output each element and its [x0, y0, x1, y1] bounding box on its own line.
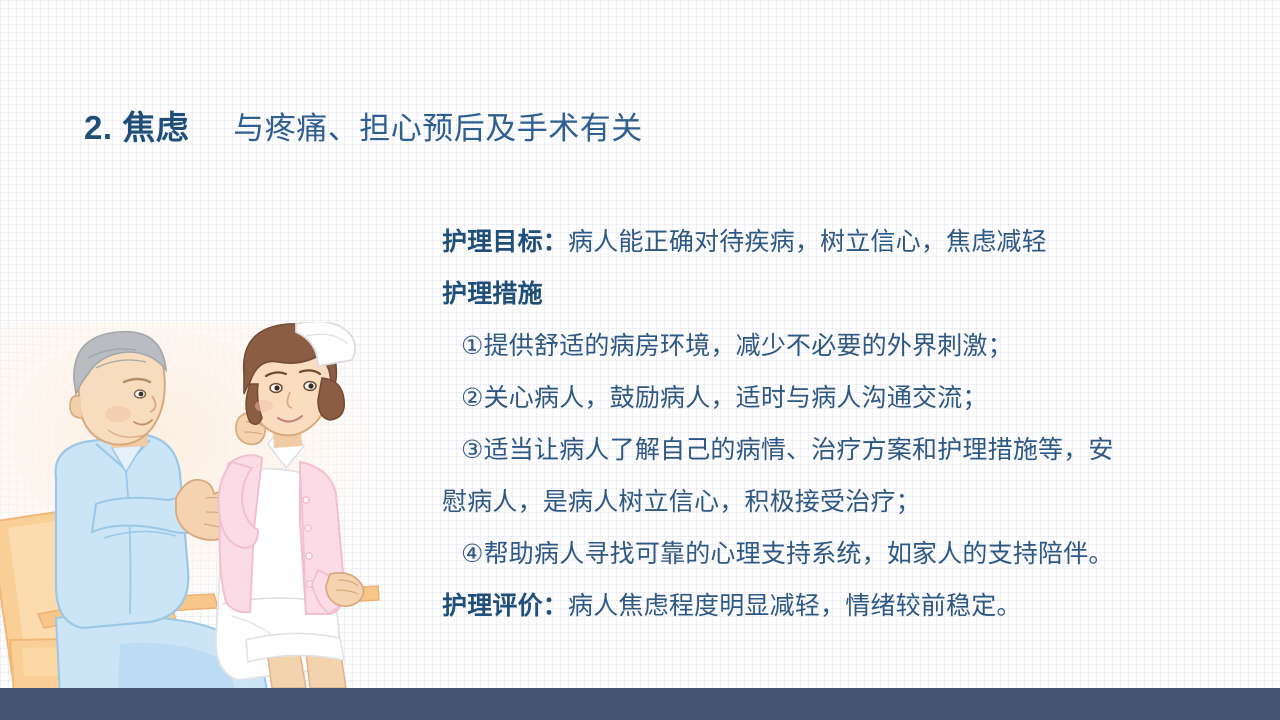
care-evaluation-text: 病人焦虑程度明显减轻，情绪较前稳定。 — [568, 592, 1022, 620]
care-measure-item-continued: 慰病人，是病人树立信心，积极接受治疗； — [442, 476, 1242, 528]
title-number-and-topic: 2. 焦虑 — [84, 101, 189, 149]
title-related-to: 与疼痛、担心预后及手术有关 — [233, 103, 643, 148]
care-measure-item: ③适当让病人了解自己的病情、治疗方案和护理措施等，安 — [442, 424, 1242, 476]
care-goal-label: 护理目标： — [442, 228, 568, 256]
illustration-artwork — [0, 322, 390, 688]
nurse-and-patient-illustration — [0, 322, 390, 688]
care-measure-item: ④帮助病人寻找可靠的心理支持系统，如家人的支持陪伴。 — [442, 528, 1242, 580]
slide-title: 2. 焦虑 与疼痛、担心预后及手术有关 — [84, 101, 643, 149]
footer-bar — [0, 688, 1280, 720]
care-measures-heading: 护理措施 — [442, 268, 1242, 320]
care-goal-text: 病人能正确对待疾病，树立信心，焦虑减轻 — [568, 228, 1047, 256]
presentation-slide: 2. 焦虑 与疼痛、担心预后及手术有关 — [0, 0, 1280, 720]
care-evaluation-label: 护理评价： — [442, 592, 568, 620]
care-goal-line: 护理目标：病人能正确对待疾病，树立信心，焦虑减轻 — [442, 216, 1242, 268]
care-measure-item: ①提供舒适的病房环境，减少不必要的外界刺激； — [442, 320, 1242, 372]
nursing-care-content: 护理目标：病人能正确对待疾病，树立信心，焦虑减轻 护理措施 ①提供舒适的病房环境… — [442, 216, 1242, 632]
care-measure-item: ②关心病人，鼓励病人，适时与病人沟通交流； — [442, 372, 1242, 424]
care-evaluation-line: 护理评价：病人焦虑程度明显减轻，情绪较前稳定。 — [442, 580, 1242, 632]
care-measures-label: 护理措施 — [442, 280, 543, 308]
